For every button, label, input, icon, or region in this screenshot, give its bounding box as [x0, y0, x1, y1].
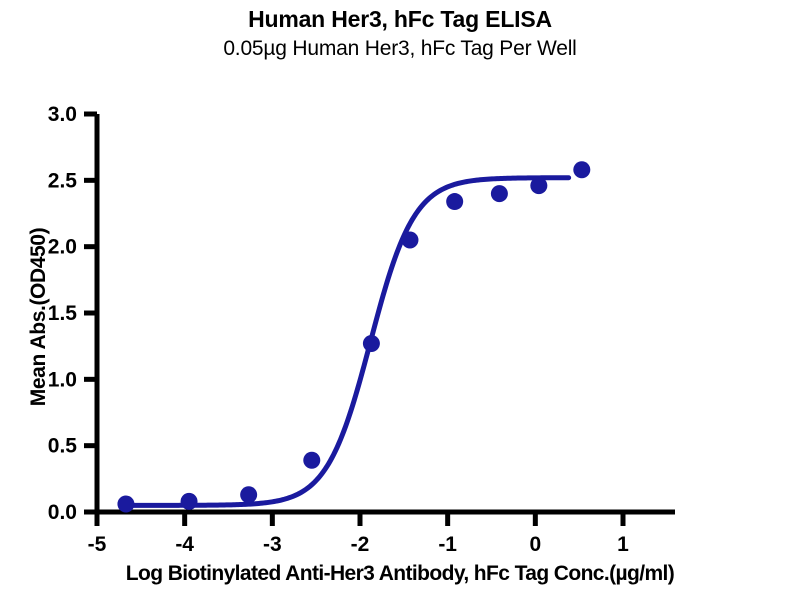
data-point: [117, 496, 134, 513]
y-axis-label: Mean Abs.(OD450): [27, 152, 51, 482]
svg-text:0.0: 0.0: [48, 501, 77, 524]
svg-text:1.0: 1.0: [48, 368, 77, 391]
elisa-chart-figure: Human Her3, hFc Tag ELISA 0.05µg Human H…: [0, 0, 800, 600]
data-point: [491, 185, 508, 202]
svg-text:1: 1: [617, 533, 629, 556]
svg-text:1.5: 1.5: [48, 302, 78, 325]
data-point: [240, 486, 257, 503]
svg-text:3.0: 3.0: [48, 103, 77, 126]
plot-area: 0.00.51.01.52.02.53.0 -5-4-3-2-101: [0, 0, 800, 600]
data-point: [573, 161, 590, 178]
svg-text:0.5: 0.5: [48, 435, 78, 458]
data-point-markers: [117, 161, 590, 512]
svg-text:2.0: 2.0: [48, 236, 77, 259]
data-point: [446, 193, 463, 210]
data-point: [181, 493, 198, 510]
x-axis-label: Log Biotinylated Anti-Her3 Antibody, hFc…: [0, 562, 800, 586]
data-point: [530, 177, 547, 194]
svg-text:2.5: 2.5: [48, 169, 78, 192]
data-point: [401, 232, 418, 249]
svg-text:-3: -3: [263, 533, 282, 556]
svg-text:0: 0: [529, 533, 541, 556]
x-axis-tick-labels: -5-4-3-2-101: [88, 533, 630, 556]
svg-text:-1: -1: [438, 533, 457, 556]
svg-text:-5: -5: [88, 533, 107, 556]
svg-text:-4: -4: [175, 533, 194, 556]
y-axis-tick-labels: 0.00.51.01.52.02.53.0: [48, 103, 78, 524]
data-point: [363, 335, 380, 352]
fit-curve: [126, 178, 569, 506]
data-point: [303, 452, 320, 469]
svg-text:-2: -2: [351, 533, 370, 556]
